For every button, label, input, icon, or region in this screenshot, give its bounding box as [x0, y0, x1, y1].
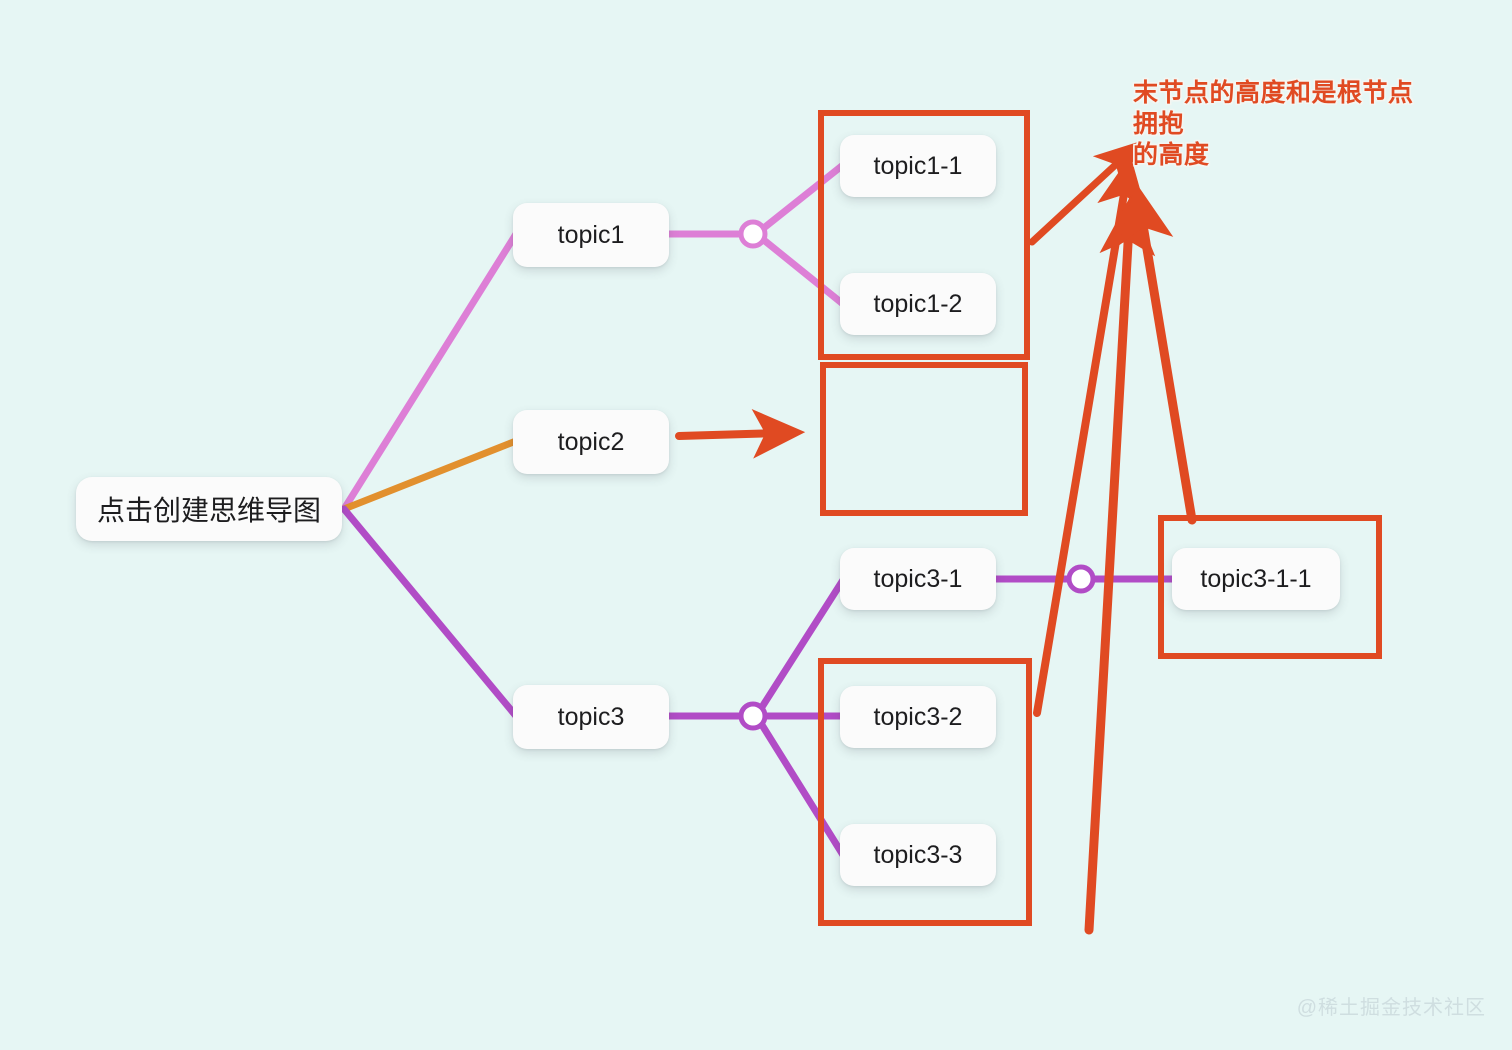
- node-topic1-label: topic1: [558, 221, 625, 250]
- edge-topic1-topic1-1: [765, 165, 843, 227]
- node-topic1-1-label: topic1-1: [874, 152, 963, 181]
- edge-topic3-topic3-1: [762, 580, 843, 707]
- node-topic1-1[interactable]: topic1-1: [840, 135, 996, 197]
- node-topic3-2[interactable]: topic3-2: [840, 686, 996, 748]
- edge-root-topic3: [344, 509, 516, 716]
- mindmap-canvas: 点击创建思维导图 topic1 topic2 topic3 topic1-1 t…: [0, 0, 1512, 1050]
- node-topic1-2-label: topic1-2: [874, 290, 963, 319]
- node-topic3-3-label: topic3-3: [874, 841, 963, 870]
- edge-topic1-topic1-2: [765, 241, 843, 304]
- node-topic3-3[interactable]: topic3-3: [840, 824, 996, 886]
- annotation-arrow-3: [1089, 226, 1129, 930]
- node-topic3-1-label: topic3-1: [874, 565, 963, 594]
- annotation-arrow-1: [1032, 157, 1124, 242]
- collapse-handle-topic1: [741, 222, 765, 246]
- node-root[interactable]: 点击创建思维导图: [76, 477, 342, 541]
- annotation-arrow-topic2: [679, 433, 778, 436]
- node-topic1-2[interactable]: topic1-2: [840, 273, 996, 335]
- annotation-note-line1: 末节点的高度和是根节点拥抱: [1133, 78, 1433, 140]
- node-topic3-1-1[interactable]: topic3-1-1: [1172, 548, 1340, 610]
- node-topic3[interactable]: topic3: [513, 685, 669, 749]
- watermark: @稀土掘金技术社区: [1297, 991, 1486, 1020]
- annotation-note-line2: 的高度: [1133, 140, 1433, 171]
- annotation-arrow-2: [1037, 182, 1126, 713]
- edge-root-topic1: [344, 234, 516, 509]
- node-topic2-label: topic2: [558, 428, 625, 457]
- node-topic3-label: topic3: [558, 703, 625, 732]
- edge-root-topic2: [344, 441, 516, 509]
- highlight-box-topic2-children-empty: [820, 362, 1028, 516]
- node-topic3-2-label: topic3-2: [874, 703, 963, 732]
- collapse-handle-topic3: [741, 704, 765, 728]
- annotation-arrow-4: [1141, 213, 1192, 520]
- node-topic1[interactable]: topic1: [513, 203, 669, 267]
- collapse-handle-topic3-1: [1069, 567, 1093, 591]
- edge-topic3-topic3-3: [762, 725, 843, 855]
- node-topic2[interactable]: topic2: [513, 410, 669, 474]
- annotation-note: 末节点的高度和是根节点拥抱 的高度: [1133, 78, 1433, 171]
- node-topic3-1[interactable]: topic3-1: [840, 548, 996, 610]
- node-topic3-1-1-label: topic3-1-1: [1200, 565, 1311, 594]
- node-root-label: 点击创建思维导图: [97, 489, 321, 529]
